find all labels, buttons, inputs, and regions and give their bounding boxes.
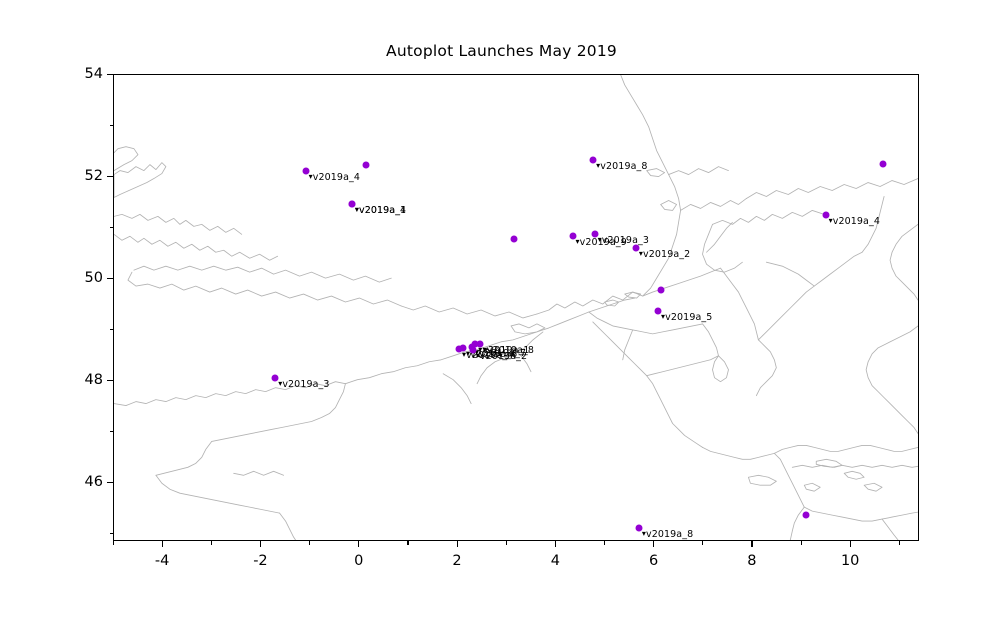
label-text: v2019a_4	[313, 172, 360, 183]
launch-marker-label: ▾v2019a_4	[829, 216, 880, 227]
y-axis-tick-label: 54	[63, 66, 103, 82]
x-axis-minor-tick	[801, 541, 802, 545]
y-axis-minor-tick	[110, 125, 114, 126]
x-axis-tick-label: -2	[253, 553, 267, 569]
label-text: v2019a_4	[833, 216, 880, 227]
launch-marker-label: ▾v2019a_3	[278, 379, 329, 390]
y-axis-major-tick	[107, 74, 113, 75]
x-axis-tick-label: -4	[155, 553, 169, 569]
launch-marker-label: ▾v2019a_3	[598, 235, 649, 246]
x-axis-major-tick	[457, 541, 458, 547]
label-text: v2019a_8	[600, 161, 647, 172]
label-text: v2019a_3	[282, 379, 329, 390]
y-axis-major-tick	[107, 482, 113, 483]
y-axis-minor-tick	[110, 431, 114, 432]
x-axis-minor-tick	[211, 541, 212, 545]
launch-marker[interactable]	[880, 161, 887, 168]
launch-marker[interactable]	[657, 287, 664, 294]
launch-marker[interactable]	[802, 511, 809, 518]
x-axis-minor-tick	[407, 541, 408, 545]
x-axis-minor-tick	[506, 541, 507, 545]
x-axis-tick-label: 10	[841, 553, 859, 569]
x-axis-minor-tick	[113, 541, 114, 545]
launch-marker-label: ▾v2019a_4	[309, 172, 360, 183]
x-axis-tick-label: 6	[649, 553, 658, 569]
launch-marker-label: ▾v2019a_2	[476, 351, 527, 362]
x-axis-major-tick	[358, 541, 359, 547]
x-axis-tick-label: 8	[747, 553, 756, 569]
map-axes[interactable]: ▾v2019a_4▾v2019a_1▾v2019a_4▾v2019a_3▾v20…	[113, 74, 919, 541]
launch-marker[interactable]	[363, 162, 370, 169]
x-axis-major-tick	[653, 541, 654, 547]
x-axis-minor-tick	[702, 541, 703, 545]
label-text: v2019a_3	[602, 235, 649, 246]
label-text: v2019a_8	[646, 529, 693, 540]
y-axis-minor-tick	[110, 533, 114, 534]
y-axis-minor-tick	[110, 227, 114, 228]
x-axis-tick-label: 4	[551, 553, 560, 569]
x-axis-major-tick	[850, 541, 851, 547]
x-axis-minor-tick	[309, 541, 310, 545]
y-axis-major-tick	[107, 176, 113, 177]
y-axis-tick-label: 50	[63, 270, 103, 286]
launch-marker-label: ▾v2019a_4	[355, 205, 406, 216]
y-axis-tick-label: 48	[63, 372, 103, 388]
launch-marker-label: ▾v2019a_8	[596, 161, 647, 172]
label-text: v2019a_5	[665, 312, 712, 323]
y-axis-tick-label: 52	[63, 168, 103, 184]
launch-marker-label: ▾v2019a_5	[661, 312, 712, 323]
x-axis-major-tick	[162, 541, 163, 547]
label-text: v2019a_2	[643, 249, 690, 260]
y-axis-major-tick	[107, 380, 113, 381]
x-axis-major-tick	[751, 541, 752, 547]
launch-marker-label: ▾v2019a_2	[639, 249, 690, 260]
figure-canvas: Autoplot Launches May 2019	[0, 0, 1003, 633]
x-axis-tick-label: 2	[452, 553, 461, 569]
map-geography	[114, 75, 918, 540]
x-axis-major-tick	[555, 541, 556, 547]
y-axis-major-tick	[107, 278, 113, 279]
launch-marker[interactable]	[510, 236, 517, 243]
y-axis-tick-label: 46	[63, 474, 103, 490]
x-axis-tick-label: 0	[354, 553, 363, 569]
label-text: v2019a_2	[480, 351, 527, 362]
x-axis-major-tick	[260, 541, 261, 547]
y-axis-minor-tick	[110, 329, 114, 330]
page-title: Autoplot Launches May 2019	[0, 42, 1003, 60]
x-axis-minor-tick	[899, 541, 900, 545]
x-axis-minor-tick	[604, 541, 605, 545]
label-text: v2019a_4	[359, 205, 406, 216]
launch-marker-label: ▾v2019a_8	[642, 529, 693, 540]
